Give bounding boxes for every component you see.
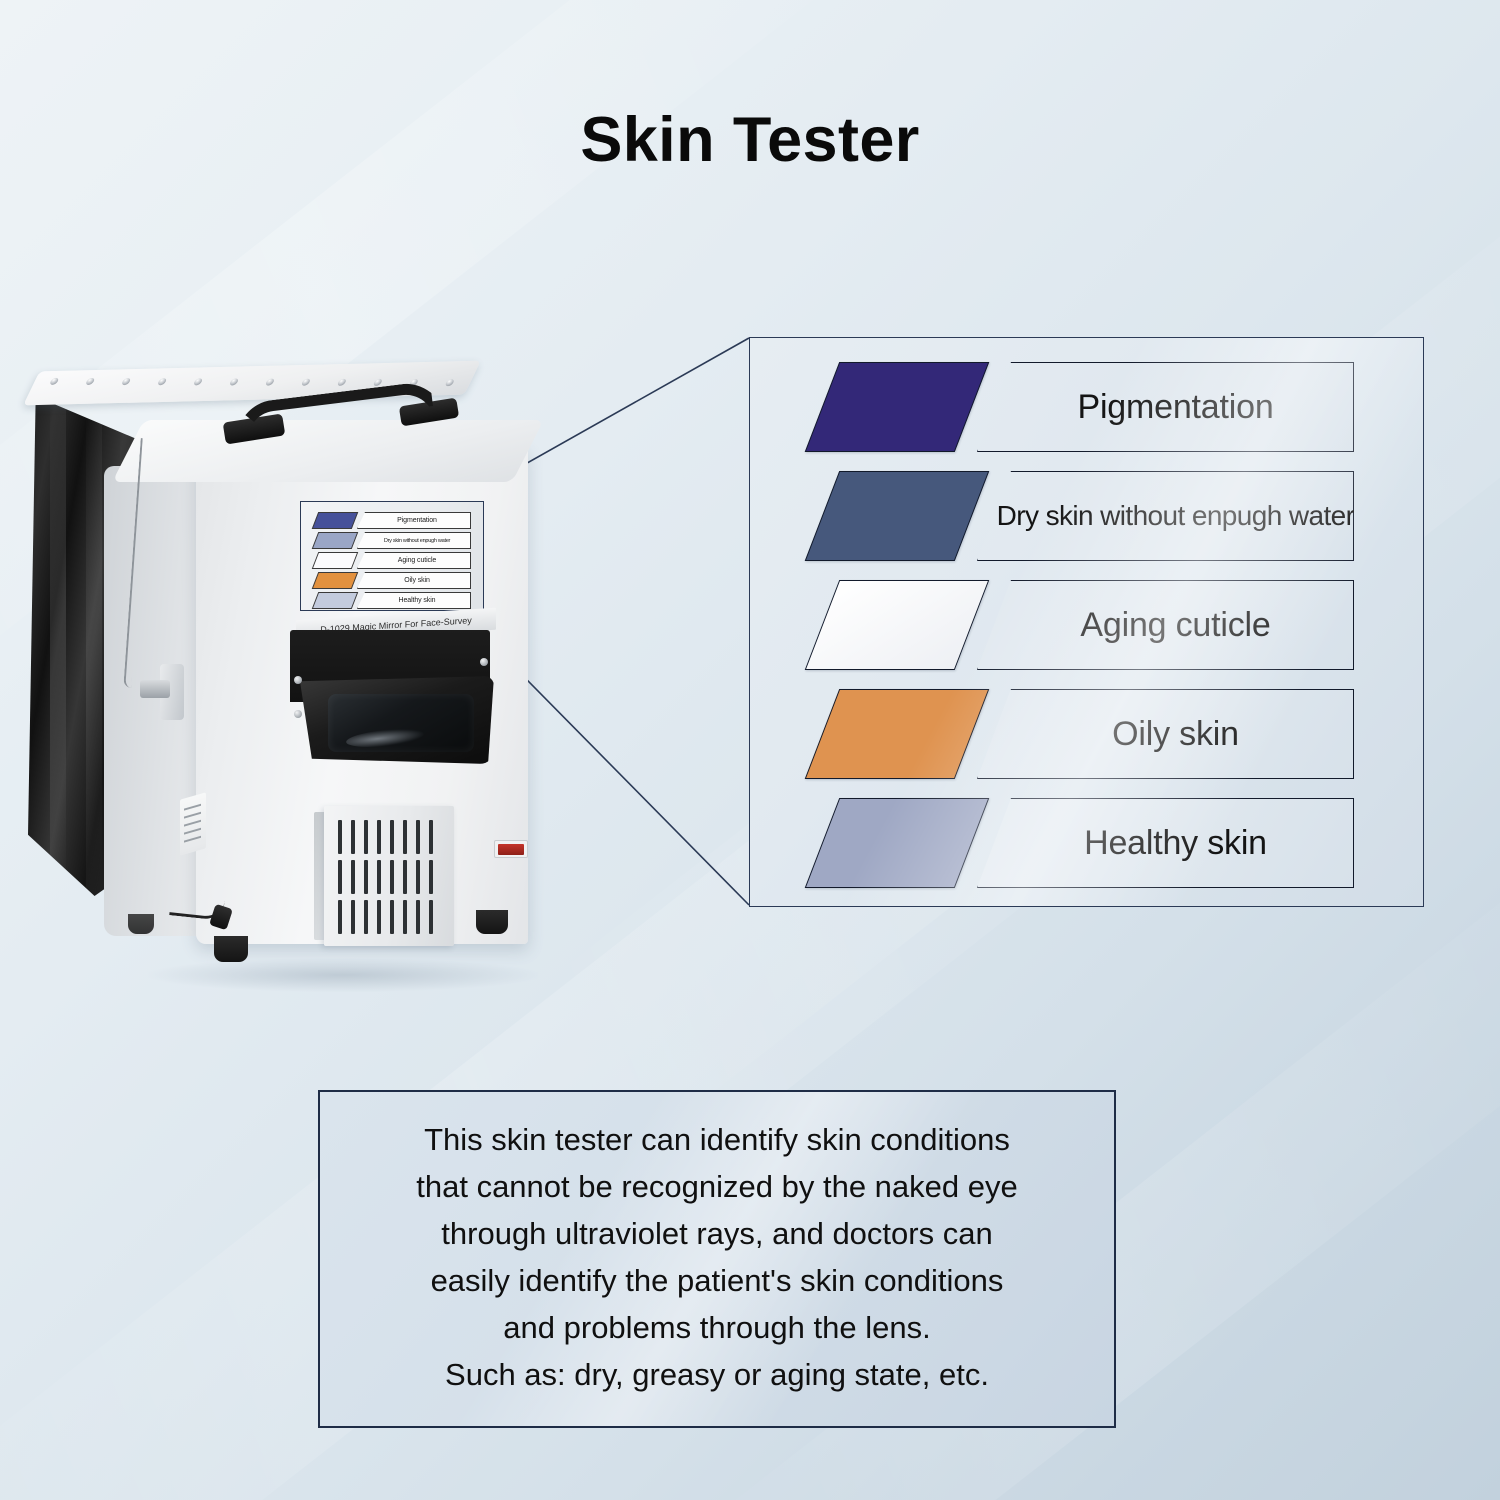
aging-cuticle-plate: Aging cuticle: [977, 580, 1354, 670]
pigmentation-plate: Pigmentation: [977, 362, 1354, 452]
legend-row-aging-cuticle[interactable]: Aging cuticle: [750, 580, 1423, 670]
description-line: Such as: dry, greasy or aging state, etc…: [445, 1351, 989, 1398]
description-line: and problems through the lens.: [503, 1304, 930, 1351]
pigmentation-swatch: [805, 362, 990, 452]
device-foot: [128, 914, 154, 934]
device-label-text: Healthy skin: [357, 592, 471, 609]
vent-housing: [324, 806, 454, 946]
legend-panel: Pigmentation Dry skin without enpugh wat…: [749, 337, 1424, 907]
dry-skin-swatch: [805, 471, 990, 561]
product-photo: Pigmentation Dry skin without enpugh wat…: [28, 358, 598, 1018]
oily-skin-swatch-mini: [312, 572, 359, 589]
device-foot: [214, 936, 248, 962]
power-switch-rocker[interactable]: [498, 844, 524, 855]
device-label-text: Aging cuticle: [357, 552, 471, 569]
device-foot: [476, 910, 508, 934]
device-label-row: Pigmentation: [315, 512, 471, 529]
spec-sticker: [180, 792, 206, 855]
device-label-text: Oily skin: [357, 572, 471, 589]
power-switch[interactable]: [494, 840, 528, 858]
device-label-row: Oily skin: [315, 572, 471, 589]
device-label-text: Dry skin without enpugh water: [357, 532, 471, 549]
side-knob[interactable]: [140, 680, 170, 698]
healthy-skin-plate: Healthy skin: [977, 798, 1354, 888]
legend-row-healthy-skin[interactable]: Healthy skin: [750, 798, 1423, 888]
oily-skin-plate: Oily skin: [977, 689, 1354, 779]
device-ground-shadow: [148, 958, 538, 992]
device-label-row: Dry skin without enpugh water: [315, 532, 471, 549]
page-title: Skin Tester: [0, 104, 1500, 176]
pigmentation-swatch-mini: [312, 512, 359, 529]
healthy-skin-swatch: [805, 798, 990, 888]
device-label-row: Healthy skin: [315, 592, 471, 609]
housing-screw: [294, 710, 302, 718]
aging-cuticle-swatch-mini: [312, 552, 359, 569]
dry-skin-plate: Dry skin without enpugh water: [977, 471, 1354, 561]
legend-label: Aging cuticle: [978, 581, 1353, 669]
legend-label: Healthy skin: [978, 799, 1353, 887]
device-label-row: Aging cuticle: [315, 552, 471, 569]
description-line: through ultraviolet rays, and doctors ca…: [441, 1210, 992, 1257]
legend-row-oily-skin[interactable]: Oily skin: [750, 689, 1423, 779]
description-line: that cannot be recognized by the naked e…: [416, 1163, 1018, 1210]
device-side-panel: [104, 466, 204, 936]
aging-cuticle-swatch: [805, 580, 990, 670]
device-front-label: Pigmentation Dry skin without enpugh wat…: [300, 501, 484, 611]
legend-row-dry-skin[interactable]: Dry skin without enpugh water: [750, 471, 1423, 561]
device-label-text: Pigmentation: [357, 512, 471, 529]
housing-screw: [294, 676, 302, 684]
dry-skin-swatch-mini: [312, 532, 359, 549]
description-line: easily identify the patient's skin condi…: [431, 1257, 1004, 1304]
legend-label: Dry skin without enpugh water: [978, 472, 1353, 560]
housing-screw: [480, 658, 488, 666]
oily-skin-swatch: [805, 689, 990, 779]
description-box: This skin tester can identify skin condi…: [318, 1090, 1116, 1428]
legend-label: Oily skin: [978, 690, 1353, 778]
infographic-page: Skin Tester: [0, 0, 1500, 1500]
legend-row-pigmentation[interactable]: Pigmentation: [750, 362, 1423, 452]
healthy-skin-swatch-mini: [312, 592, 359, 609]
legend-label: Pigmentation: [978, 363, 1353, 451]
description-line: This skin tester can identify skin condi…: [424, 1116, 1010, 1163]
